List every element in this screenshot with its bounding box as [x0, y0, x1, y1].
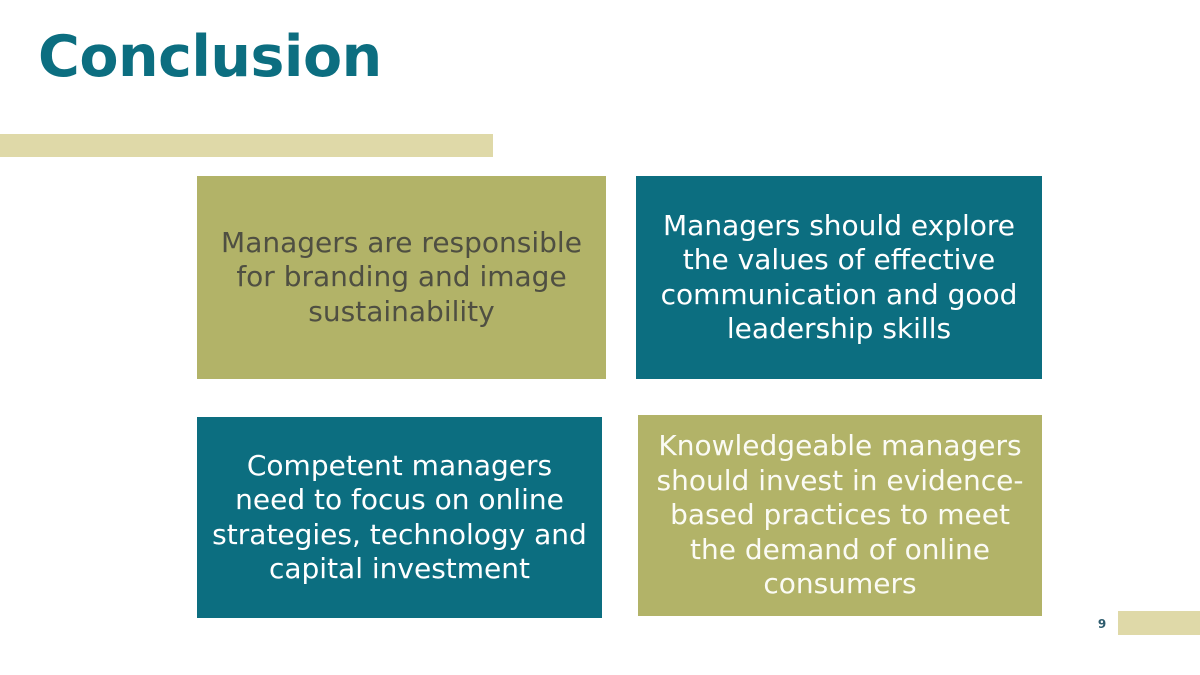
- title-accent-bar: [0, 134, 493, 157]
- footer-accent-bar: [1118, 611, 1200, 635]
- conclusion-box-bottom-left: Competent managers need to focus on onli…: [197, 417, 602, 618]
- page-number: 9: [1092, 617, 1112, 631]
- conclusion-box-bottom-right: Knowledgeable managers should invest in …: [638, 415, 1042, 616]
- slide-canvas: Conclusion Managers are responsible for …: [0, 0, 1200, 675]
- page-title: Conclusion: [38, 26, 382, 89]
- conclusion-box-top-right: Managers should explore the values of ef…: [636, 176, 1042, 379]
- conclusion-box-text: Competent managers need to focus on onli…: [211, 449, 588, 587]
- conclusion-box-text: Managers are responsible for branding an…: [211, 226, 592, 329]
- conclusion-box-text: Managers should explore the values of ef…: [650, 209, 1028, 347]
- conclusion-box-top-left: Managers are responsible for branding an…: [197, 176, 606, 379]
- conclusion-box-text: Knowledgeable managers should invest in …: [652, 429, 1028, 601]
